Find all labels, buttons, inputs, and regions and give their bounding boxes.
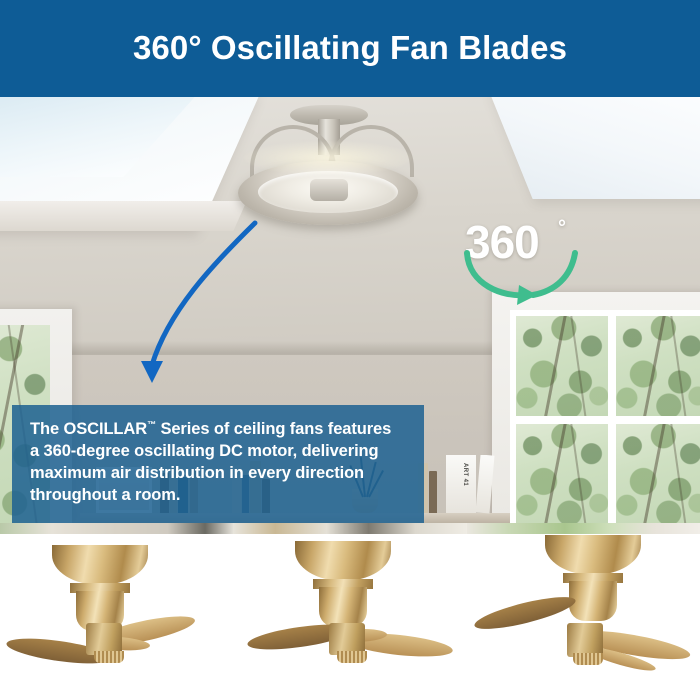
- caption-line-4: throughout a room.: [30, 485, 406, 507]
- room-scene: ART 41 360 °: [0, 97, 700, 523]
- photo-sliver: [233, 523, 466, 534]
- magazine-stack: ART 41: [446, 455, 476, 513]
- skylight-left-sill: [0, 201, 247, 231]
- book: [429, 471, 437, 513]
- blade-collar: [567, 623, 603, 657]
- foliage-pane: [616, 316, 700, 416]
- motor-bell: [52, 545, 148, 585]
- rotation-badge-360: 360 °: [455, 215, 590, 305]
- fan-hub: [310, 179, 348, 201]
- skylight-left-glass: [0, 97, 205, 177]
- fan-motor-housing: [52, 545, 148, 631]
- motor-finial: [337, 651, 367, 663]
- caption-line-2: a 360-degree oscillating DC motor, deliv…: [30, 441, 406, 463]
- foliage-pane: [516, 316, 608, 416]
- motor-barrel: [319, 587, 367, 627]
- motor-finial: [94, 651, 124, 663]
- photo-sliver: [467, 523, 700, 534]
- magazine-label: ART 41: [462, 463, 468, 486]
- fan-light-glow: [244, 141, 412, 175]
- ceiling-fan-hero: [238, 105, 418, 230]
- fan-motor-housing: [295, 541, 391, 627]
- infographic-page: 360° Oscillating Fan Blades: [0, 0, 700, 700]
- caption-box: The OSCILLAR™ Series of ceiling fans fea…: [12, 405, 424, 523]
- caption-text-post: Series of ceiling fans features: [156, 420, 391, 438]
- motor-bell: [295, 541, 391, 581]
- fan-angle-panel-2: [233, 523, 466, 700]
- page-title: 360° Oscillating Fan Blades: [133, 30, 567, 66]
- rotation-arrow-icon: [455, 245, 590, 305]
- degree-symbol: °: [558, 217, 566, 240]
- motor-barrel: [569, 581, 617, 621]
- caption-line-3: maximum air distribution in every direct…: [30, 463, 406, 485]
- caption-text-pre: The OSCILLAR: [30, 420, 147, 438]
- magazine: [475, 455, 494, 513]
- fan-angle-panel-1: [0, 523, 233, 700]
- fan-angle-triptych: [0, 523, 700, 700]
- photo-sliver: [0, 523, 233, 534]
- motor-bell: [545, 535, 641, 575]
- fan-angle-panel-3: [467, 523, 700, 700]
- trademark-symbol: ™: [147, 420, 156, 430]
- header-banner: 360° Oscillating Fan Blades: [0, 0, 700, 97]
- motor-finial: [573, 653, 603, 665]
- caption-line-1: The OSCILLAR™ Series of ceiling fans fea…: [30, 419, 406, 441]
